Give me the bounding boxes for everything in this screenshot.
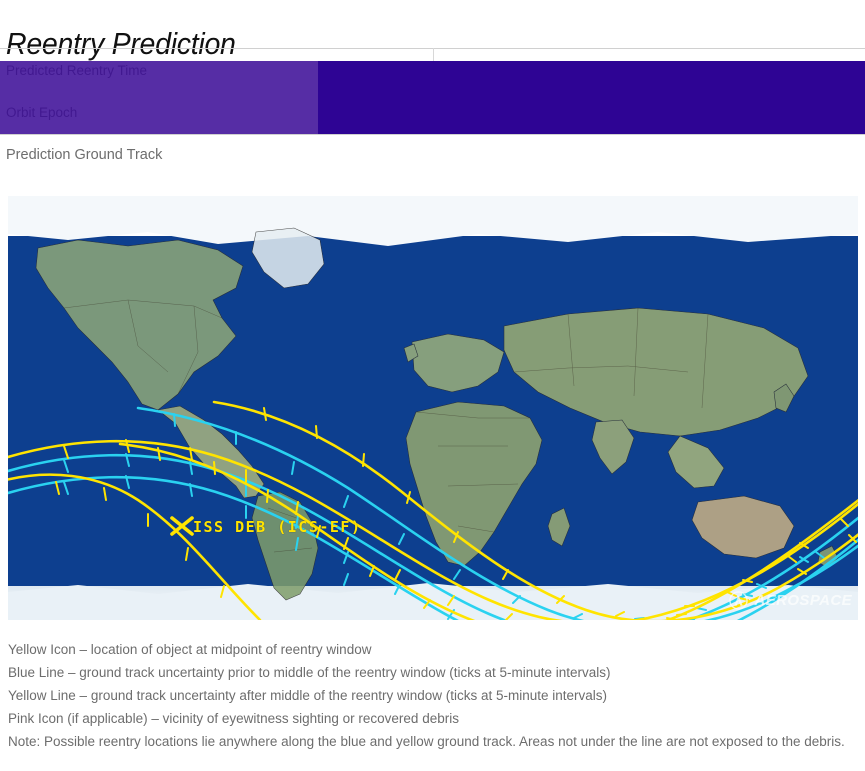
nav-scrim-overlay [0,61,318,134]
aerospace-watermark: AEROSPACE [729,591,852,610]
aerospace-logo-icon [729,591,748,610]
ground-track-map[interactable]: ISS DEB (ICS-EF) AEROSPACE [8,196,858,620]
section-heading-ground-track: Prediction Ground Track [6,147,162,163]
legend-line-yellow-line: Yellow Line – ground track uncertainty a… [8,684,858,707]
nav-menu: WHO WE ARE WHAT WE DO PARTNER WITH US CA… [318,0,865,73]
legend-line-yellow-icon: Yellow Icon – location of object at midp… [8,638,858,661]
map-legend: Yellow Icon – location of object at midp… [8,638,858,753]
legend-line-blue-line: Blue Line – ground track uncertainty pri… [8,661,858,684]
nav-item-what-we-do[interactable]: WHAT WE DO [512,0,645,73]
aerospace-wordmark: AEROSPACE [754,592,852,609]
satellite-object-label: ISS DEB (ICS-EF) [193,518,362,536]
legend-line-note: Note: Possible reentry locations lie any… [8,730,858,753]
page-root: Reentry Prediction Predicted Reentry Tim… [0,0,865,771]
nav-item-who-we-are[interactable]: WHO WE ARE [340,0,474,73]
legend-line-pink-icon: Pink Icon (if applicable) – vicinity of … [8,707,858,730]
world-map-graphic [8,196,858,620]
nav-item-partner-with-us[interactable]: PARTNER WITH US [683,0,854,73]
